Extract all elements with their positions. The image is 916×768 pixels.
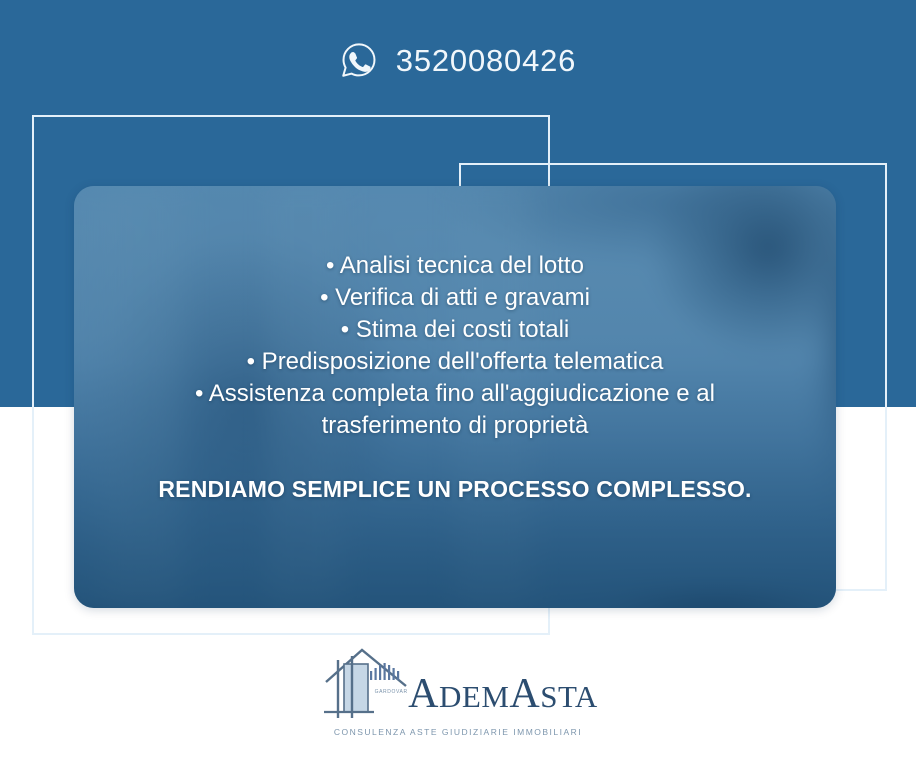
brand-logo: GARDOVAR ADEMASTA CONSULENZA ASTE GIUDIZ… — [0, 646, 916, 738]
list-item: • Verifica di atti e gravami — [128, 282, 782, 314]
phone-number[interactable]: 3520080426 — [396, 45, 576, 76]
logo-wordmark-b: A — [509, 671, 540, 717]
list-item: • Assistenza completa fino all'aggiudica… — [128, 378, 782, 442]
list-item: • Predisposizione dell'offerta telematic… — [128, 346, 782, 378]
house-logo-icon: GARDOVAR — [318, 646, 414, 720]
list-item: • Stima dei costi totali — [128, 314, 782, 346]
card-copy: • Analisi tecnica del lotto • Verifica d… — [74, 186, 836, 608]
content-card: • Analisi tecnica del lotto • Verifica d… — [74, 186, 836, 608]
service-list: • Analisi tecnica del lotto • Verifica d… — [128, 250, 782, 442]
logo-subtitle: CONSULENZA ASTE GIUDIZIARIE IMMOBILIARI — [334, 727, 582, 738]
tagline: RENDIAMO SEMPLICE UN PROCESSO COMPLESSO. — [158, 476, 751, 503]
list-item: • Analisi tecnica del lotto — [128, 250, 782, 282]
logo-wordmark-dem: DEM — [439, 679, 509, 714]
contact-header: 3520080426 — [0, 34, 916, 86]
logo-wordmark-sta: STA — [540, 679, 598, 714]
logo-badge-text: GARDOVAR — [375, 689, 408, 695]
logo-badge: GARDOVAR — [364, 662, 418, 698]
logo-main-row: GARDOVAR ADEMASTA — [318, 646, 598, 720]
poster-canvas: 3520080426 • Analisi tecnica del lotto •… — [0, 0, 916, 768]
logo-wordmark: ADEMASTA — [408, 671, 598, 720]
whatsapp-icon[interactable] — [340, 41, 378, 79]
